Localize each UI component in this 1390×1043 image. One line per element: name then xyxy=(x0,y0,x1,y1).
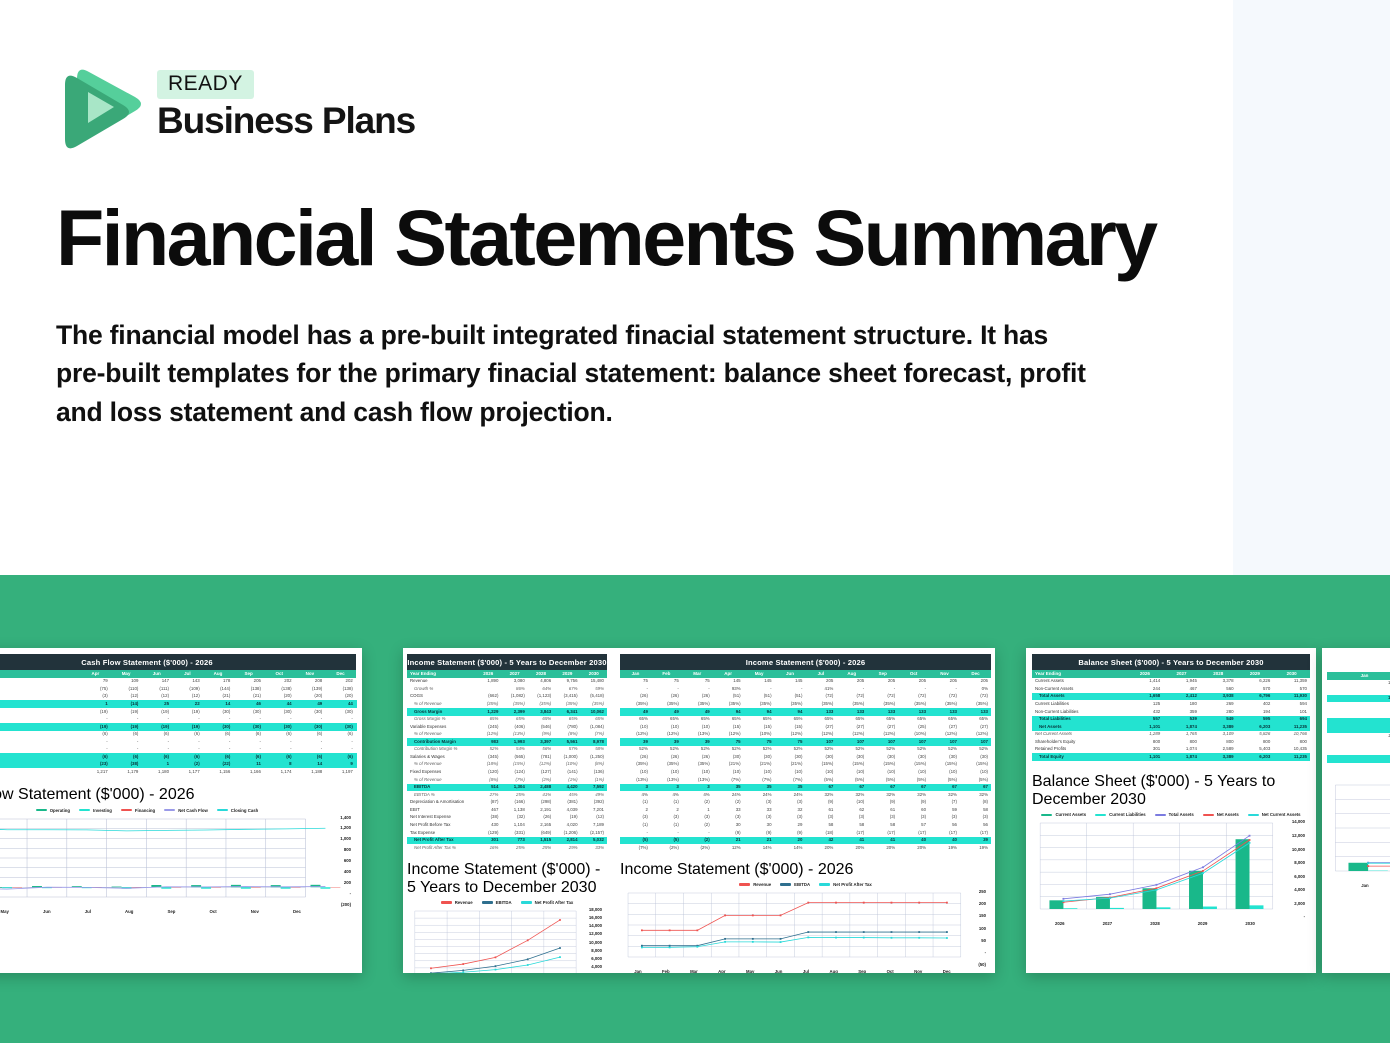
cell-value: 205 xyxy=(805,678,836,686)
cell-value: (3,415) xyxy=(554,693,580,701)
row-label: Gross Margin xyxy=(407,708,475,716)
cell-value: 402 xyxy=(1237,700,1274,708)
row-label: Fixed Expenses xyxy=(407,768,475,776)
cell-value: (27) xyxy=(960,723,991,731)
cell-value: (35%) xyxy=(960,700,991,708)
screenshot-cash-flow[interactable]: Cash Flow Statement ($'000) - 2026AprMay… xyxy=(0,648,362,973)
cell-value: (35%) xyxy=(805,700,836,708)
cell-value: (38) xyxy=(475,814,501,822)
cell-value: (27) xyxy=(867,723,898,731)
cell-value: 21 xyxy=(744,837,775,845)
cell-value: 32% xyxy=(867,791,898,799)
cell-value: (17) xyxy=(898,829,929,837)
column-header: May xyxy=(111,670,142,678)
cell-value: (120) xyxy=(475,768,501,776)
spreadsheet-table: Balance Sheet ($'000) - 5 Years to Decem… xyxy=(1032,654,1310,761)
cell-value: (51) xyxy=(713,693,744,701)
cell-value: (7%) xyxy=(620,844,651,852)
row-label: Net Profit After Tax % xyxy=(407,844,475,852)
legend-label: Current Liabilities xyxy=(1109,812,1146,817)
cell-value: 1,658 xyxy=(1127,693,1164,701)
table-header-row: JanFeb xyxy=(1327,672,1390,680)
spreadsheet-table: Cash Flow Statement ($'000) - 2026AprMay… xyxy=(0,654,356,776)
y-tick-label: (200) xyxy=(320,902,351,907)
cell-value: 595 xyxy=(1237,716,1274,724)
cell-value: (6) xyxy=(264,731,295,739)
cell-value: (6) xyxy=(325,753,356,761)
cell-value: - xyxy=(203,746,234,754)
table-row: 1,3591,359 xyxy=(1327,695,1390,703)
cell-value: (406) xyxy=(501,723,527,731)
cell-value: 6,203 xyxy=(1237,753,1274,761)
cell-value: 3 xyxy=(620,784,651,792)
cell-value: (26) xyxy=(651,693,682,701)
cell-value: 133 xyxy=(805,708,836,716)
cell-value: 61 xyxy=(805,806,836,814)
row-label: % of Revenue xyxy=(407,776,475,784)
legend-item: EBITDA xyxy=(482,900,512,905)
row-label xyxy=(0,678,80,686)
cell-value: 2,191 xyxy=(528,806,554,814)
cell-value: 1,765 xyxy=(1163,731,1200,739)
cell-value: 49 xyxy=(651,708,682,716)
cell-value: 11,359 xyxy=(1273,678,1310,686)
cell-value: (3) xyxy=(929,814,960,822)
table-row: (35%)(35%)(35%)(35%)(35%)(35%)(35%)(35%)… xyxy=(620,700,991,708)
column-header: Feb xyxy=(651,670,682,678)
cell-value: (30) xyxy=(203,723,234,731)
cell-value: - xyxy=(325,716,356,724)
legend-item: Net Profit After Tax xyxy=(521,900,574,905)
cell-value: (22) xyxy=(203,761,234,769)
table-row: % of Revenue(18%)(15%)(12%)(10%)(8%) xyxy=(407,761,607,769)
column-header: Jun xyxy=(775,670,806,678)
cell-value: (10) xyxy=(867,768,898,776)
chart-plot: 14,00012,00010,0008,0006,0004,0002,000- xyxy=(1036,819,1306,919)
cell-value: (9) xyxy=(744,829,775,837)
cell-value: 65% xyxy=(744,716,775,724)
cell-value: 107 xyxy=(836,738,867,746)
spreadsheet-table: Income Statement ($'000) - 5 Years to De… xyxy=(407,654,607,852)
cell-value: 18 xyxy=(1327,687,1390,695)
column-header: Oct xyxy=(898,670,929,678)
cell-value: 94 xyxy=(744,708,775,716)
cell-value: (30) xyxy=(867,753,898,761)
cell-value: (7%) xyxy=(775,776,806,784)
cell-value: (10) xyxy=(805,768,836,776)
table-row: 1836 xyxy=(1327,687,1390,695)
legend-item: Current Assets xyxy=(1041,812,1086,817)
legend-swatch xyxy=(1041,814,1052,817)
cell-value: (10) xyxy=(960,768,991,776)
cell-value: (10) xyxy=(775,768,806,776)
cell-value: (5%) xyxy=(867,776,898,784)
cell-value: 1,197 xyxy=(325,768,356,776)
cell-value: 65% xyxy=(805,716,836,724)
cell-value: (10) xyxy=(651,768,682,776)
cell-value: 1,229 xyxy=(475,708,501,716)
screenshot-balance-sheet[interactable]: Balance Sheet ($'000) - 5 Years to Decem… xyxy=(1026,648,1316,973)
legend-swatch xyxy=(739,883,750,886)
cell-value: (27) xyxy=(836,723,867,731)
cell-value: 2,589 xyxy=(1200,746,1237,754)
cell-value: (5) xyxy=(620,837,651,845)
cell-value: 773 xyxy=(501,837,527,845)
column-header: Mar xyxy=(682,670,713,678)
cell-value: 14 xyxy=(203,700,234,708)
column-header: Apr xyxy=(80,670,111,678)
cell-value: 3,938 xyxy=(1200,693,1237,701)
column-header: 2029 xyxy=(1237,670,1274,678)
cell-value: 800 xyxy=(1163,738,1200,746)
row-label xyxy=(0,723,80,731)
cell-value: 65% xyxy=(620,716,651,724)
cell-value: 32% xyxy=(960,791,991,799)
table-row: EBITDA5141,3042,4884,4207,592 xyxy=(407,784,607,792)
cell-value: (13%) xyxy=(682,731,713,739)
cell-value: 58% xyxy=(581,746,607,754)
cell-value: 109 xyxy=(111,678,142,686)
legend-swatch xyxy=(1095,814,1106,817)
cell-value: (12%) xyxy=(929,731,960,739)
cell-value: 39 xyxy=(682,738,713,746)
cell-value: 30 xyxy=(744,821,775,829)
cell-value: 1 xyxy=(141,761,172,769)
cell-value: (6) xyxy=(80,731,111,739)
cell-value: 205 xyxy=(836,678,867,686)
row-label: Growth % xyxy=(407,685,475,693)
chart-plot: 1,4001,2001,000800600400200-(200) xyxy=(0,815,352,907)
cell-value: 1,289 xyxy=(1127,731,1164,739)
cell-value: 101 xyxy=(1273,708,1310,716)
cell-value: 39 xyxy=(620,738,651,746)
cell-value: 25 xyxy=(141,700,172,708)
cell-value: (26) xyxy=(620,753,651,761)
cell-value: 41 xyxy=(867,837,898,845)
brand-name: Business Plans xyxy=(157,101,415,141)
y-tick-label: 1,400 xyxy=(320,815,351,820)
cell-value: (5) xyxy=(651,837,682,845)
x-tick-label: Mar xyxy=(690,969,698,973)
cell-value: - xyxy=(141,716,172,724)
cell-value: (30) xyxy=(264,708,295,716)
column-header: Jun xyxy=(141,670,172,678)
cell-value: (10%) xyxy=(898,731,929,739)
cell-value: - xyxy=(264,716,295,724)
cell-value: 180 xyxy=(1163,700,1200,708)
cell-value: (3) xyxy=(682,814,713,822)
column-header: Jul xyxy=(172,670,203,678)
cell-value: 58 xyxy=(867,821,898,829)
cell-value: 67 xyxy=(898,784,929,792)
x-tick-label: Dec xyxy=(293,909,301,914)
cell-value: 133 xyxy=(898,708,929,716)
screenshot-balance-monthly[interactable]: JanFeb1,3411,32318361,3591,3596572495489… xyxy=(1322,648,1390,973)
cell-value: 432 xyxy=(1127,708,1164,716)
chart-title: Income Statement ($'000) - 5 Years to De… xyxy=(407,861,607,897)
cell-value: (3) xyxy=(960,814,991,822)
table-header-row: Year Ending20262027202820292030 xyxy=(407,670,607,678)
table-row: Fixed Expenses(120)(124)(127)(141)(136) xyxy=(407,768,607,776)
row-label: Non-Current Liabilities xyxy=(1032,708,1127,716)
table-row: 560561 xyxy=(1327,718,1390,726)
cell-value: (245) xyxy=(475,723,501,731)
table-title: Balance Sheet ($'000) - 5 Years to Decem… xyxy=(1032,654,1310,670)
cell-value: (144) xyxy=(203,685,234,693)
column-header: 2028 xyxy=(528,670,554,678)
y-tick-label: 150 xyxy=(963,913,986,918)
spreadsheet-table: Income Statement ($'000) - 2026JanFebMar… xyxy=(620,654,991,852)
cell-value: 52% xyxy=(898,746,929,754)
x-tick-label: Dec xyxy=(943,969,951,973)
cell-value: 56% xyxy=(528,746,554,754)
legend-label: Investing xyxy=(93,808,112,813)
table-row: (6)(6)(6)(6)(6)(6)(6)(6)(6)(6) xyxy=(0,731,356,739)
x-tick-label: Oct xyxy=(209,909,216,914)
cell-value: (15) xyxy=(775,723,806,731)
cell-value: - xyxy=(264,738,295,746)
cell-value: (1,123) xyxy=(528,693,554,701)
cell-value: (20) xyxy=(264,693,295,701)
cell-value: (136) xyxy=(581,768,607,776)
table-row: Net Assets1,1011,8743,3896,20311,235 xyxy=(1032,723,1310,731)
cell-value: (17) xyxy=(929,829,960,837)
cell-value: 3,080 xyxy=(501,678,527,686)
cell-value: (7%) xyxy=(501,776,527,784)
cell-value: (780) xyxy=(554,723,580,731)
cell-value: (3) xyxy=(80,693,111,701)
cell-value: 570 xyxy=(1273,685,1310,693)
cell-value: (72) xyxy=(960,693,991,701)
cell-value: (7%) xyxy=(744,776,775,784)
cell-value: (30) xyxy=(325,708,356,716)
legend-swatch xyxy=(36,809,47,812)
legend-swatch xyxy=(482,901,493,904)
cell-value: (26) xyxy=(620,693,651,701)
table-row: (26)(26)(26)(30)(30)(30)(30)(30)(30)(30)… xyxy=(620,753,991,761)
table-row: % of Revenue(35%)(35%)(35%)(35%)(35%) xyxy=(407,700,607,708)
row-label: % of Revenue xyxy=(407,761,475,769)
cell-value: 79 xyxy=(80,678,111,686)
y-tick-label: 1,200 xyxy=(320,825,351,830)
cell-value: (1%) xyxy=(554,776,580,784)
cell-value: (35%) xyxy=(620,700,651,708)
cell-value: 41 xyxy=(836,837,867,845)
table-row: (1)(2) xyxy=(1327,748,1390,756)
cell-value: 64% xyxy=(528,685,554,693)
legend-label: Net Current Assets xyxy=(1262,812,1301,817)
cell-value: 35 xyxy=(713,784,744,792)
legend-label: Total Assets xyxy=(1169,812,1194,817)
table-row: 333353535676767676767 xyxy=(620,784,991,792)
cell-value: - xyxy=(682,685,713,693)
cell-value: 800 xyxy=(1200,738,1237,746)
cell-value: (35%) xyxy=(528,700,554,708)
cell-value: 58 xyxy=(836,821,867,829)
table-row: ---(9)(9)(9)(18)(17)(17)(17)(17)(17) xyxy=(620,829,991,837)
column-header: 2028 xyxy=(1200,670,1237,678)
cell-value: (12) xyxy=(111,693,142,701)
row-label: COGS xyxy=(407,693,475,701)
cell-value: 4% xyxy=(651,791,682,799)
cell-value: (2) xyxy=(682,837,713,845)
chart-y-axis: 25020015010050-(50) xyxy=(963,889,986,967)
column-header: 2030 xyxy=(1273,670,1310,678)
cell-value: 65% xyxy=(867,716,898,724)
chart: Cash Flow Statement ($'000) - 2026Operat… xyxy=(0,786,356,918)
cell-value: - xyxy=(325,746,356,754)
cell-value: (35%) xyxy=(836,700,867,708)
x-tick-label: Jan xyxy=(1361,883,1368,888)
cell-value: (8) xyxy=(960,799,991,807)
cell-value: (9) xyxy=(775,829,806,837)
cell-value: (7%) xyxy=(713,776,744,784)
cell-value: (15%) xyxy=(929,761,960,769)
cell-value: 205 xyxy=(898,678,929,686)
y-tick-label: 10,000 xyxy=(577,940,602,945)
table-row: Non-Current Assets244467560570570 xyxy=(1032,685,1310,693)
cell-value: (124) xyxy=(501,768,527,776)
cell-value: 202 xyxy=(264,678,295,686)
legend-item: Revenue xyxy=(739,882,771,887)
cell-value: 58 xyxy=(805,821,836,829)
spacer xyxy=(1327,763,1390,771)
cell-value: 4,020 xyxy=(554,821,580,829)
cell-value: (3) xyxy=(898,814,929,822)
row-label xyxy=(0,708,80,716)
cell-value: 14% xyxy=(744,844,775,852)
cell-value: - xyxy=(682,829,713,837)
cell-value: (546) xyxy=(528,723,554,731)
chart-x-axis: JanFebMarAprMayJunJulAugSepOctNovDec xyxy=(624,967,987,973)
cell-value: (6) xyxy=(172,731,203,739)
cell-value: 65% xyxy=(775,716,806,724)
cell-value: (12%) xyxy=(528,761,554,769)
cell-value: (30) xyxy=(233,708,264,716)
cell-value: 1,180 xyxy=(141,768,172,776)
cell-value: 62 xyxy=(836,806,867,814)
legend-item: Revenue xyxy=(441,900,473,905)
chart-x-axis: 20262027202820292030 xyxy=(1036,919,1306,926)
cell-value: 1,515 xyxy=(528,837,554,845)
balance-5yr-pane: Balance Sheet ($'000) - 5 Years to Decem… xyxy=(1026,648,1316,973)
cell-value: (6) xyxy=(203,731,234,739)
x-tick-label: Aug xyxy=(829,969,837,973)
cell-value: (1,084) xyxy=(581,723,607,731)
column-header: Jul xyxy=(805,670,836,678)
x-tick-label: Nov xyxy=(251,909,259,914)
column-header: Jan xyxy=(1327,672,1390,680)
cell-value: (15%) xyxy=(836,761,867,769)
chart-title: Cash Flow Statement ($'000) - 2026 xyxy=(0,786,356,804)
cell-value: (2%) xyxy=(651,844,682,852)
cell-value: 10,435 xyxy=(1273,746,1310,754)
table-row: % of Revenue(12%)(13%)(9%)(8%)(7%) xyxy=(407,731,607,739)
cell-value: (3) xyxy=(867,814,898,822)
x-tick-label: Apr xyxy=(718,969,725,973)
cell-value: 52% xyxy=(620,746,651,754)
cell-value: 3,389 xyxy=(1200,753,1237,761)
cell-value: (5%) xyxy=(836,776,867,784)
cell-value: 2,814 xyxy=(554,837,580,845)
cell-value: (14) xyxy=(111,700,142,708)
cell-value: (1) xyxy=(651,799,682,807)
cell-value: (15%) xyxy=(501,761,527,769)
row-label: Variable Expenses xyxy=(407,723,475,731)
table-row: (3)(12)(12)(12)(21)(21)(20)(20)(20)(19) xyxy=(0,693,356,701)
cell-value: 205 xyxy=(929,678,960,686)
y-tick-label: - xyxy=(963,950,986,955)
cell-value: 11 xyxy=(233,761,264,769)
cell-value: (8%) xyxy=(581,761,607,769)
cell-value: 65% xyxy=(581,716,607,724)
row-label: Net Assets xyxy=(1032,723,1127,731)
chart-legend: OperatingInvestingFinancingNet Cash Flow… xyxy=(0,804,352,815)
cell-value: 52% xyxy=(713,746,744,754)
cell-value: 202 xyxy=(325,678,356,686)
cell-value: 21 xyxy=(713,837,744,845)
cell-value: - xyxy=(295,738,326,746)
chart-plot: 18,00016,00014,00012,00010,0008,0006,000… xyxy=(411,907,603,973)
cell-value: 65% xyxy=(682,716,713,724)
cell-value: - xyxy=(141,738,172,746)
cell-value: (12%) xyxy=(836,731,867,739)
legend-label: EBITDA xyxy=(496,900,512,905)
screenshot-income[interactable]: Income Statement ($'000) - 5 Years to De… xyxy=(403,648,995,973)
chart: Income Statement ($'000) - 2026RevenueEB… xyxy=(620,861,991,973)
row-label: Net Interest Expense xyxy=(407,814,475,822)
cell-value: (6) xyxy=(172,753,203,761)
legend-label: Revenue xyxy=(455,900,473,905)
cell-value: 5,561 xyxy=(554,738,580,746)
cell-value: (1,000) xyxy=(554,753,580,761)
legend-label: Financing xyxy=(135,808,155,813)
row-label xyxy=(0,700,80,708)
legend-label: Closing Cash xyxy=(231,808,258,813)
cell-value: (781) xyxy=(528,753,554,761)
cell-value: (30) xyxy=(744,753,775,761)
table-row: (35%)(35%)(35%)(21%)(21%)(21%)(15%)(15%)… xyxy=(620,761,991,769)
cell-value: 194 xyxy=(1237,708,1274,716)
legend-swatch xyxy=(1155,814,1166,817)
table-row: (3)(3)(3)(3)(3)(3)(3)(3)(3)(3)(3)(3) xyxy=(620,814,991,822)
row-label: Revenue xyxy=(407,678,475,686)
x-tick-label: Oct xyxy=(887,969,894,973)
table-row: Tax Expense(129)(331)(649)(1,206)(2,157) xyxy=(407,829,607,837)
table-row: ---------- xyxy=(0,746,356,754)
x-tick-label: Jun xyxy=(775,969,783,973)
cell-value: 1,101 xyxy=(1127,753,1164,761)
cell-value: - xyxy=(172,746,203,754)
y-tick-label: 50 xyxy=(963,938,986,943)
cell-value: 52% xyxy=(836,746,867,754)
cell-value: 1 xyxy=(682,806,713,814)
cell-value: (72) xyxy=(836,693,867,701)
cell-value: 3,389 xyxy=(1200,723,1237,731)
cell-value: 6,226 xyxy=(1237,678,1274,686)
cell-value: 1,188 xyxy=(295,768,326,776)
table-row: Growth %86%64%67%59% xyxy=(407,685,607,693)
cell-value: 205 xyxy=(960,678,991,686)
balance-2026-pane: JanFeb1,3411,32318361,3591,3596572495489… xyxy=(1322,648,1390,973)
cell-value: 301 xyxy=(1127,746,1164,754)
cell-value: 20% xyxy=(836,844,867,852)
cell-value: (1) xyxy=(1327,748,1390,756)
cell-value: (30) xyxy=(203,708,234,716)
legend-swatch xyxy=(521,901,532,904)
cell-value: (331) xyxy=(501,829,527,837)
cell-value: (21%) xyxy=(744,761,775,769)
